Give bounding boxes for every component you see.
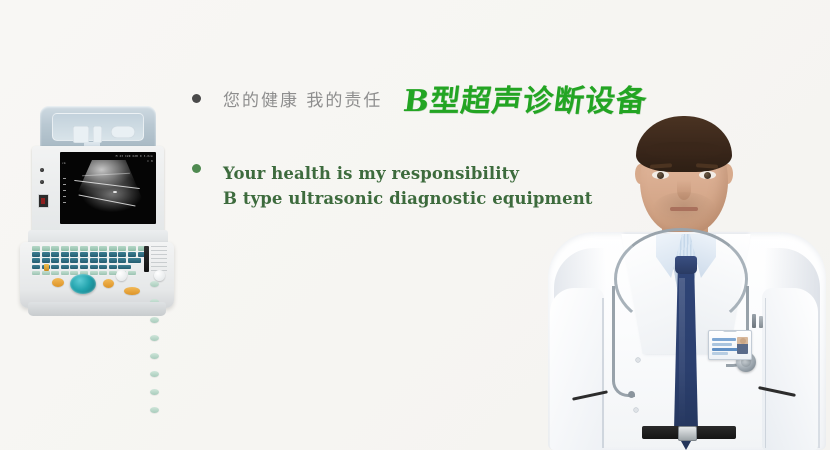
key-wide[interactable] (118, 265, 131, 270)
key[interactable] (70, 252, 78, 257)
nose (677, 180, 691, 200)
coat-seam-right (765, 298, 767, 448)
key[interactable] (109, 246, 117, 251)
key[interactable] (128, 252, 136, 257)
machine-top-slot (73, 126, 89, 143)
pocket-pen-icon (752, 314, 756, 328)
soft-key[interactable] (90, 271, 98, 276)
measure-button[interactable] (124, 287, 140, 295)
badge-text-line (712, 338, 736, 341)
key[interactable] (90, 258, 98, 263)
key[interactable] (118, 252, 126, 257)
screen-depth-ruler (63, 178, 66, 208)
keyboard-row-soft (32, 271, 152, 276)
badge-clip (723, 330, 737, 332)
soft-key[interactable] (42, 271, 50, 276)
badge-text-line (712, 348, 738, 351)
ultrasound-scan-image (68, 160, 148, 214)
probe-port (38, 194, 49, 208)
screen-readout-left: cm (62, 162, 66, 165)
soft-key[interactable] (51, 271, 59, 276)
screen-readout-top-2: C 8 (147, 160, 153, 163)
key[interactable] (80, 258, 88, 263)
coat-button (634, 408, 638, 412)
key[interactable] (42, 258, 50, 263)
screen-readout-top: M 23 I2N 6dB D 3.0cm (116, 155, 153, 158)
eye-right (699, 171, 716, 179)
key[interactable] (42, 252, 50, 257)
english-line-2: B type ultrasonic diagnostic equipment (223, 186, 593, 211)
badge-photo (737, 337, 748, 354)
key[interactable] (99, 265, 107, 270)
pocket-pen-icon (759, 316, 763, 328)
key[interactable] (32, 252, 40, 257)
ultrasound-display-screen: M 23 I2N 6dB D 3.0cm C 8 cm (60, 152, 156, 224)
power-led-icon (40, 168, 44, 172)
stethoscope-tip-left (628, 391, 635, 398)
mouth (670, 207, 698, 211)
key[interactable] (90, 252, 98, 257)
key[interactable] (51, 265, 59, 270)
key[interactable] (99, 252, 107, 257)
soft-key[interactable] (32, 271, 40, 276)
indicator-amber-small (44, 264, 49, 271)
key[interactable] (51, 246, 59, 251)
promo-banner: 您的健康 我的责任 B型超声诊断设备 Your health is my res… (0, 0, 830, 450)
id-badge (708, 330, 752, 360)
tgc-slider-track[interactable] (144, 246, 149, 272)
keypad-key[interactable] (150, 371, 159, 377)
key[interactable] (61, 258, 69, 263)
machine-front-foot (28, 302, 166, 316)
key[interactable] (128, 246, 136, 251)
arm-left (550, 288, 604, 450)
bullet-dot-green-icon (192, 164, 201, 173)
keypad-key[interactable] (150, 317, 159, 323)
soft-key[interactable] (99, 271, 107, 276)
key-wide[interactable] (128, 258, 141, 263)
key[interactable] (99, 246, 107, 251)
freeze-button[interactable] (52, 278, 64, 287)
keypad-key[interactable] (150, 407, 159, 413)
keyboard-row (32, 265, 152, 270)
key[interactable] (90, 246, 98, 251)
key[interactable] (61, 252, 69, 257)
status-led-icon (40, 180, 44, 184)
keyboard-row (32, 246, 152, 251)
keyboard-row (32, 252, 152, 257)
machine-monitor-bezel: M 23 I2N 6dB D 3.0cm C 8 cm (32, 146, 164, 232)
hair (636, 116, 732, 172)
soft-key[interactable] (61, 271, 69, 276)
keypad-key[interactable] (150, 389, 159, 395)
badge-text-line (712, 343, 732, 346)
key[interactable] (99, 258, 107, 263)
key[interactable] (32, 258, 40, 263)
bullet-dot-icon (192, 94, 201, 103)
keypad-key[interactable] (150, 281, 159, 287)
belt-buckle (678, 426, 697, 441)
key[interactable] (109, 258, 117, 263)
soft-key[interactable] (128, 271, 136, 276)
key[interactable] (118, 258, 126, 263)
ultrasound-machine-image: M 23 I2N 6dB D 3.0cm C 8 cm (18, 106, 176, 320)
english-text-block: Your health is my responsibility B type … (223, 161, 593, 211)
keyboard-key-grid (32, 246, 152, 277)
key[interactable] (80, 252, 88, 257)
keypad-key[interactable] (150, 353, 159, 359)
key[interactable] (51, 252, 59, 257)
key[interactable] (51, 258, 59, 263)
tgc-scale-marks (151, 246, 167, 272)
machine-keyboard-base (20, 242, 174, 308)
key[interactable] (32, 265, 40, 270)
key[interactable] (32, 246, 40, 251)
key[interactable] (118, 246, 126, 251)
key[interactable] (61, 246, 69, 251)
keypad-key[interactable] (150, 335, 159, 341)
stethoscope-tube-left (612, 286, 635, 397)
right-keypad (150, 276, 174, 420)
machine-top-slot (93, 126, 102, 143)
machine-handle-recess (52, 113, 144, 141)
machine-top-slot (111, 126, 135, 138)
key[interactable] (42, 246, 50, 251)
english-line-1: Your health is my responsibility (223, 161, 593, 186)
key[interactable] (70, 258, 78, 263)
doctor-photo (540, 108, 830, 450)
key[interactable] (80, 246, 88, 251)
arm-right (762, 288, 818, 450)
chinese-subtitle: 您的健康 我的责任 (223, 86, 382, 111)
gain-knob[interactable] (116, 270, 127, 281)
eye-left (652, 171, 669, 179)
key[interactable] (70, 265, 78, 270)
key[interactable] (61, 265, 69, 270)
key[interactable] (109, 252, 117, 257)
badge-text-line (712, 352, 728, 355)
coat-button (636, 358, 640, 362)
key[interactable] (70, 246, 78, 251)
key[interactable] (109, 265, 117, 270)
key[interactable] (80, 265, 88, 270)
key[interactable] (90, 265, 98, 270)
trackball[interactable] (70, 274, 96, 294)
print-button[interactable] (103, 279, 114, 288)
coat-seam-left (602, 298, 604, 448)
scan-marker-icon (113, 191, 117, 193)
keyboard-row (32, 258, 152, 263)
